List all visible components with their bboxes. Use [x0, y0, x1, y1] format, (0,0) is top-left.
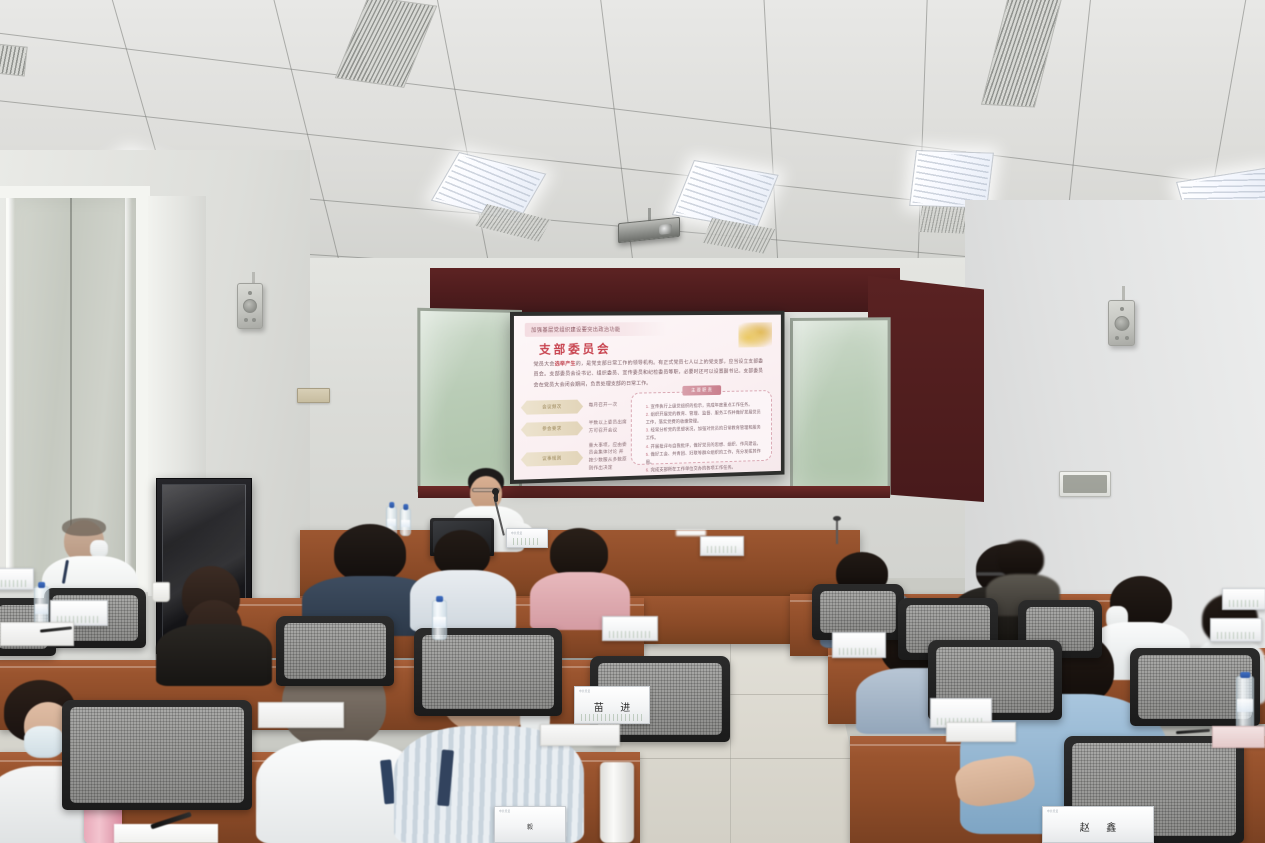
placard-name: 毅: [523, 822, 537, 831]
slide-duties-list: 宣传执行上级党组织的指示，完成年度重点工作任务。 组织开展党的教育、管理、监督、…: [638, 400, 765, 474]
office-chair[interactable]: [414, 628, 562, 716]
name-placard: 中共党员 赵 鑫: [1042, 806, 1154, 843]
projector-lens: [659, 224, 672, 235]
pen: [1176, 729, 1210, 734]
slide-title: 支部委员会: [539, 340, 611, 358]
attendee-hair: [550, 528, 608, 578]
notebook: [540, 724, 620, 746]
paper-sheet: [114, 824, 218, 843]
paper-cup: [152, 582, 170, 602]
attendee-hair: [998, 540, 1044, 578]
face-mask: [24, 726, 64, 758]
attendee: [526, 528, 632, 628]
attendee-hair: [62, 518, 106, 536]
office-chair[interactable]: [62, 700, 252, 810]
chalkboard-left: [417, 308, 522, 493]
name-placard: [700, 536, 744, 556]
notebook: [946, 722, 1016, 742]
slide-tag-text: 重大事项，应由委员会集体讨论 并按少数服从多数原则作出决定: [589, 441, 628, 472]
name-placard: [602, 616, 658, 641]
slide-tag-row: 参会要求 半数以上委员出席 方可召开会议: [527, 419, 628, 437]
water-bottle: [1236, 676, 1254, 730]
slide-header-banner: 加强基层党组织建设要突出政治功能: [525, 322, 666, 338]
name-placard: 中共党员 毅: [494, 806, 566, 843]
conference-room-photo: 加强基层党组织建设要突出政治功能 支部委员会 党员大会选举产生的，是党支部日常工…: [0, 0, 1265, 843]
presentation-slide: 加强基层党组织建设要突出政治功能 支部委员会 党员大会选举产生的，是党支部日常工…: [514, 315, 781, 480]
window-header: [0, 186, 150, 198]
notebook: [1212, 726, 1265, 748]
slide-tag-pill: 参会要求: [527, 421, 578, 436]
name-placard: [1210, 618, 1262, 642]
name-placard: [1222, 588, 1265, 610]
slide-tag-row: 议事规则 重大事项，应由委员会集体讨论 并按少数服从多数原则作出决定: [527, 441, 628, 474]
water-bottle: [432, 600, 447, 640]
projection-screen: 加强基层党组织建设要突出政治功能 支部委员会 党员大会选举产生的，是党支部日常工…: [510, 311, 784, 484]
name-placard: 中共党员 苗 进: [574, 686, 650, 724]
slide-tag-text: 半数以上委员出席 方可召开会议: [589, 419, 628, 435]
name-placard: [0, 568, 34, 590]
slide-duties-box: 主要职责 宣传执行上级党组织的指示，完成年度重点工作任务。 组织开展党的教育、管…: [631, 390, 772, 465]
attendee-torso: [156, 624, 272, 686]
ceiling-vent: [0, 42, 28, 77]
wall-speaker-right: [1108, 300, 1135, 346]
maroon-wall-band: [430, 268, 900, 312]
slide-decoration-icon: [739, 322, 772, 347]
wall-speaker-left: [237, 283, 263, 329]
ceiling-vent: [335, 0, 438, 88]
attendee: [408, 530, 518, 630]
office-chair[interactable]: [276, 616, 394, 686]
slide-tag-text: 每月召开一次: [589, 402, 618, 410]
slide-header-text: 加强基层党组织建设要突出政治功能: [531, 325, 620, 334]
slide-paragraph-pre: 党员大会: [533, 362, 554, 368]
wall-sign-right: [1059, 471, 1111, 497]
notebook: [0, 622, 74, 646]
notebook: [258, 702, 344, 728]
placard-name: 赵 鑫: [1073, 819, 1124, 834]
ceiling-vent: [981, 0, 1062, 108]
chalkboard-right: [790, 317, 891, 497]
wall-plaque: [297, 388, 330, 403]
slide-paragraph-highlight: 选举产生: [555, 361, 576, 367]
slide-tag-pill: 议事规则: [527, 451, 578, 466]
thermos: [600, 762, 634, 843]
attendee-hair: [334, 524, 406, 582]
slide-tag-row: 会议频次 每月召开一次: [527, 399, 628, 415]
slide-tag-column: 会议频次 每月召开一次 参会要求 半数以上委员出席 方可召开会议 议事规则 重大…: [527, 399, 628, 480]
attendee-torso: [410, 570, 516, 632]
slide-paragraph: 党员大会选举产生的，是党支部日常工作的领导机构。有正式党员七人以上的党支部，应当…: [533, 357, 763, 390]
placard-name: 苗 进: [587, 699, 638, 714]
podium-microphone: [494, 492, 498, 502]
slide-duties-badge: 主要职责: [683, 385, 722, 395]
microphone-stand: [836, 520, 838, 544]
slide-tag-pill: 会议频次: [527, 400, 578, 415]
name-placard: [832, 632, 886, 658]
